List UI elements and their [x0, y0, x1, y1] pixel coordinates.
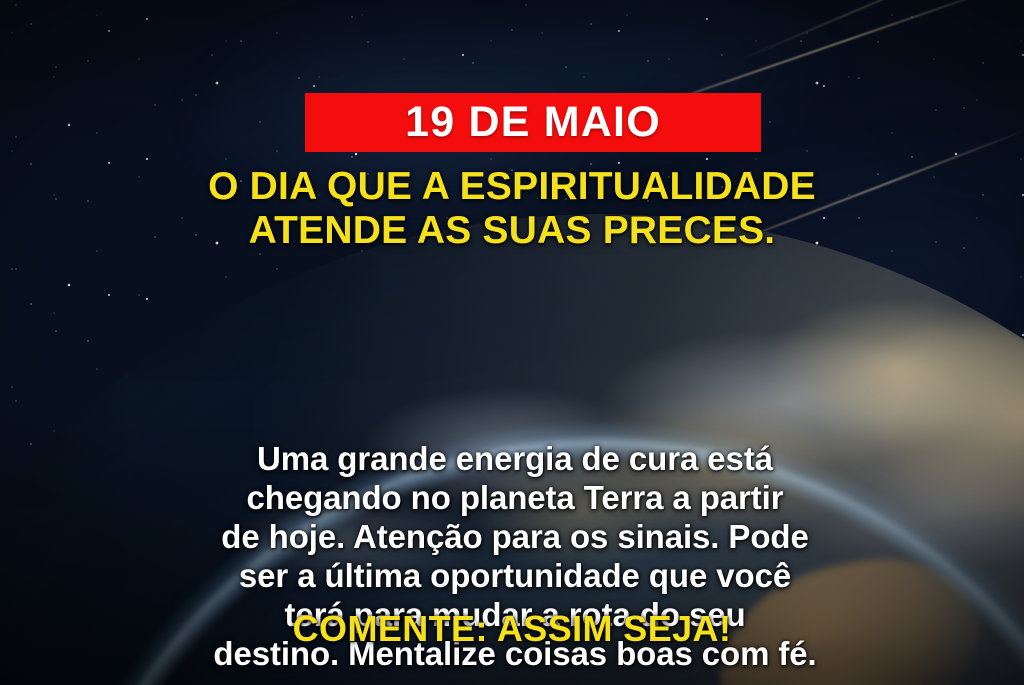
date-banner: 19 DE MAIO	[305, 93, 761, 152]
date-banner-label: 19 DE MAIO	[405, 101, 661, 144]
call-to-action-label: COMENTE: ASSIM SEJA!	[293, 608, 732, 649]
headline-line-1: O DIA QUE A ESPIRITUALIDADE	[208, 165, 816, 208]
call-to-action: COMENTE: ASSIM SEJA!	[0, 611, 1024, 647]
headline: O DIA QUE A ESPIRITUALIDADE ATENDE AS SU…	[0, 165, 1024, 252]
headline-line-2: ATENDE AS SUAS PRECES.	[0, 209, 1024, 253]
body-line-3: de hoje. Atenção para os sinais. Pode	[62, 518, 968, 557]
poster-canvas: 19 DE MAIO O DIA QUE A ESPIRITUALIDADE A…	[0, 0, 1024, 685]
poster-content: 19 DE MAIO O DIA QUE A ESPIRITUALIDADE A…	[0, 0, 1024, 685]
body-line-1: Uma grande energia de cura está	[62, 440, 968, 479]
body-line-4: ser a última oportunidade que você	[62, 557, 968, 596]
body-line-2: chegando no planeta Terra a partir	[62, 479, 968, 518]
